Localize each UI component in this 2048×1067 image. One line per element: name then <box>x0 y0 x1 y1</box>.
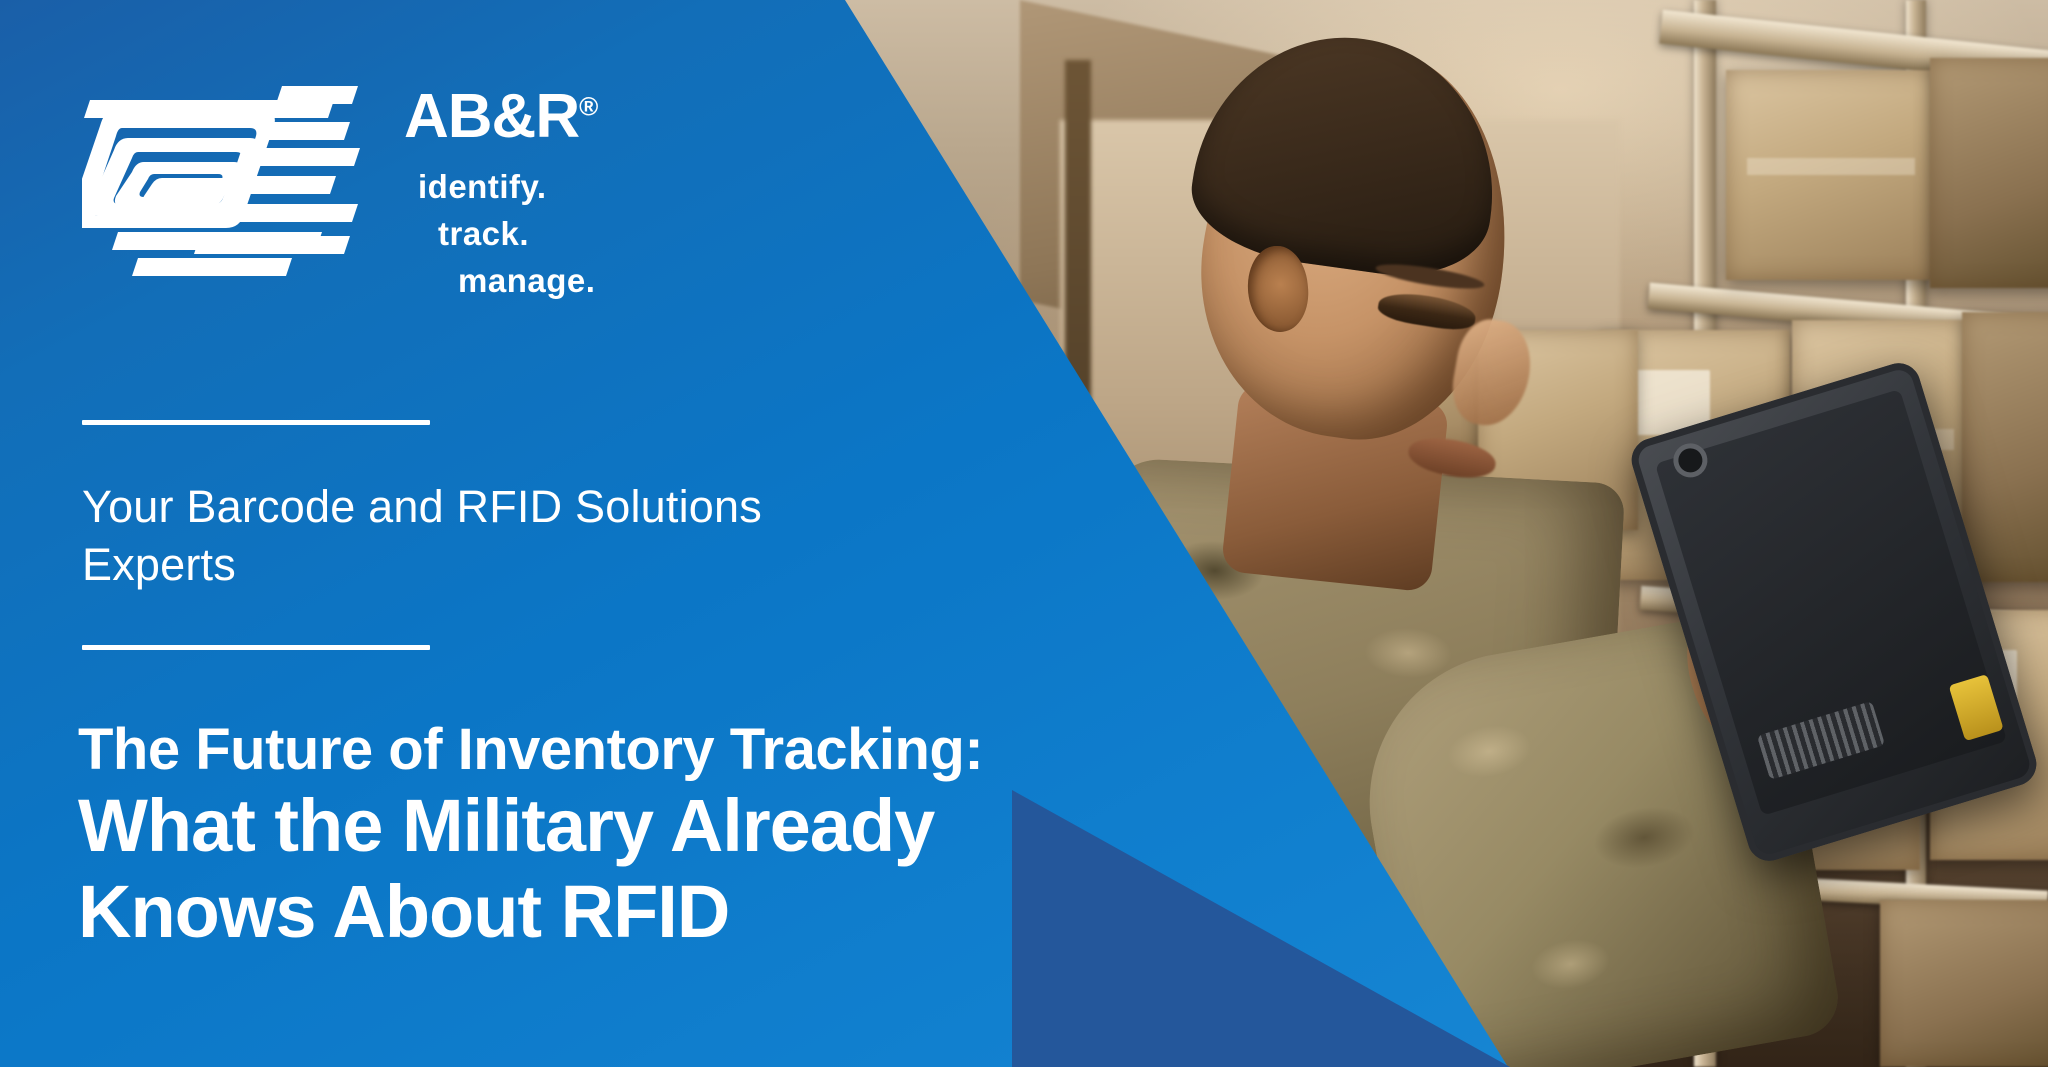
banner-content: AB&R® identify. track. manage. Your Barc… <box>0 0 2048 1067</box>
tagline-manage: manage. <box>458 258 597 305</box>
headline-line-1: The Future of Inventory Tracking: <box>78 718 1398 783</box>
brand-tagline: identify. track. manage. <box>404 164 597 305</box>
brand-name: AB&R® <box>404 86 597 148</box>
brand-name-text: AB&R <box>404 82 579 151</box>
registered-trademark-icon: ® <box>579 91 597 121</box>
brand-lockup[interactable]: AB&R® identify. track. manage. <box>82 78 597 305</box>
headline: The Future of Inventory Tracking: What t… <box>78 718 1398 955</box>
tagline-identify: identify. <box>418 164 597 211</box>
tagline-track: track. <box>438 211 597 258</box>
headline-line-3: Knows About RFID <box>78 869 1398 955</box>
divider-top <box>82 420 430 425</box>
brand-text: AB&R® identify. track. manage. <box>404 78 597 305</box>
subtitle: Your Barcode and RFID Solutions Experts <box>82 478 802 593</box>
headline-line-2: What the Military Already <box>78 783 1398 869</box>
abr-speedlines-logo-icon <box>82 78 362 278</box>
promo-banner: AB&R® identify. track. manage. Your Barc… <box>0 0 2048 1067</box>
divider-bottom <box>82 645 430 650</box>
